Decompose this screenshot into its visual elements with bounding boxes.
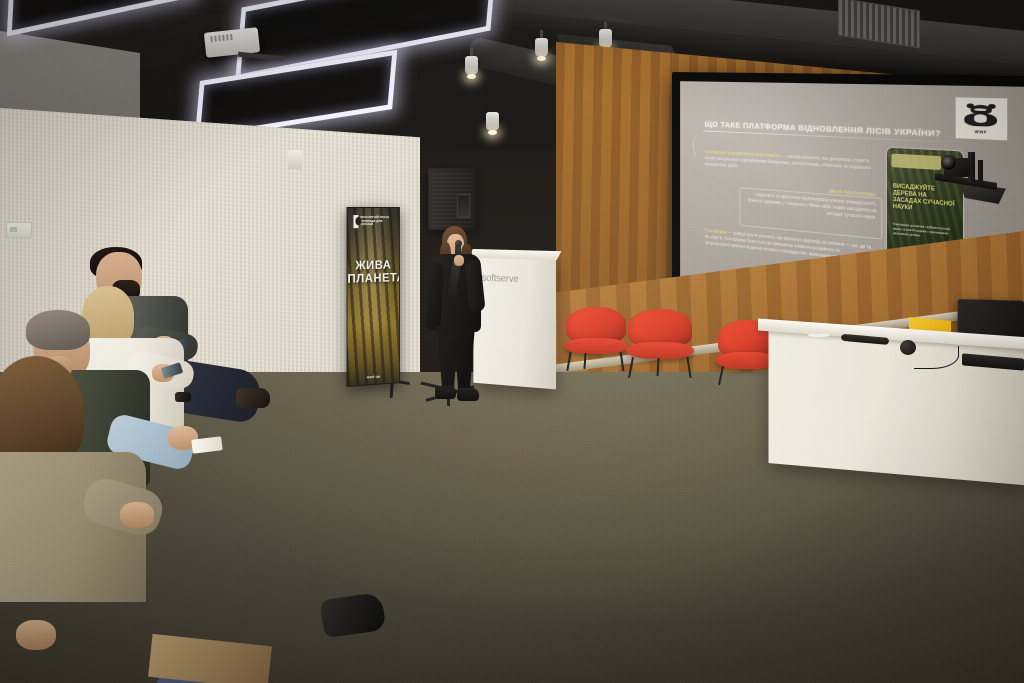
pa-loudspeaker — [428, 168, 476, 231]
panda-belly — [975, 114, 987, 122]
wall-sensor — [288, 150, 302, 169]
decorative-swirl-icon — [690, 130, 714, 155]
track-spotlight — [599, 29, 612, 48]
presenter-with-microphone — [420, 226, 494, 412]
panda-eyes — [975, 108, 987, 111]
track-spotlight — [486, 112, 499, 131]
slide-paragraph-1-lead: Платформа відновлення лісів України — [705, 149, 781, 159]
chair-leg — [718, 366, 724, 385]
audience-hand — [16, 620, 56, 650]
audience-hair — [26, 310, 90, 350]
presenter-shoe — [457, 388, 479, 401]
cream-side-desk — [768, 328, 1024, 485]
slide-mission-text: Надихати та практично підтримувати усилл… — [748, 191, 876, 220]
presenter-shoe — [435, 386, 456, 399]
wall-sign — [6, 222, 32, 238]
panda-ear-left — [967, 103, 974, 108]
audience-shoe — [236, 388, 270, 408]
chair-leg — [567, 352, 573, 371]
phone-paragraph: Платформа допоможе підібрати породи дере… — [893, 223, 956, 242]
chair-leg — [628, 356, 634, 377]
chair-seat — [564, 338, 628, 354]
slide-mission-heading: МІСІЯ ПЛАТФОРМИ: — [746, 182, 876, 199]
phone-headline: ВИСАДЖУЙТЕ ДЕРЕВА НА ЗАСАДАХ СУЧАСНОЇ НА… — [893, 183, 958, 217]
track-spotlight — [465, 56, 478, 75]
wwf-panda-icon: WWF — [955, 97, 1008, 140]
phone-app-bar — [891, 154, 940, 170]
slide-mission-box — [740, 187, 883, 240]
presenter-legs — [437, 326, 475, 392]
slide-mission: МІСІЯ ПЛАТФОРМИ: Надихати та практично п… — [746, 182, 876, 221]
slide-title: ЩО ТАКЕ ПЛАТФОРМА ВІДНОВЛЕННЯ ЛІСІВ УКРА… — [705, 120, 997, 142]
wristwatch — [175, 392, 191, 402]
presenter-hand — [454, 255, 464, 266]
panda-head — [970, 104, 992, 115]
red-armchair — [628, 309, 692, 375]
speaker-horn — [457, 194, 471, 218]
camera-post — [978, 160, 983, 184]
panda-ear-right — [988, 104, 995, 109]
audience-hand — [120, 502, 154, 528]
slide-paragraph-3-lead: Платформа — [705, 227, 727, 234]
paper-sheet — [191, 436, 222, 454]
chair-leg — [657, 358, 660, 377]
coffee-cup — [812, 323, 825, 334]
chair-seat — [626, 342, 694, 359]
panda-mark: WWF — [962, 103, 1001, 134]
camera-lens-icon — [941, 155, 957, 171]
slide-paragraph-1-rest: — онлайн-рішення, яке допомагає стирити … — [705, 153, 872, 171]
wwf-wordmark: WWF — [962, 129, 1001, 135]
conference-room-photo: ЩО ТАКЕ ПЛАТФОРМА ВІДНОВЛЕННЯ ЛІСІВ УКРА… — [0, 0, 1024, 683]
panda-body — [965, 113, 998, 127]
chair-leg — [620, 352, 625, 371]
chair-leg — [687, 356, 693, 377]
banner-logo: ВСЕСВІТНІЙ ФОНД ПРИРОДИ ДЛЯ УКРАЇНИ — [353, 214, 393, 229]
slide-paragraph-1: Платформа відновлення лісів України — он… — [705, 149, 877, 179]
red-armchair — [566, 307, 626, 369]
track-spotlight — [535, 38, 548, 57]
banner-logo-text: ВСЕСВІТНІЙ ФОНД ПРИРОДИ ДЛЯ УКРАЇНИ — [360, 216, 393, 228]
chair-leg — [583, 353, 587, 369]
wwf-panda-icon — [353, 215, 358, 228]
